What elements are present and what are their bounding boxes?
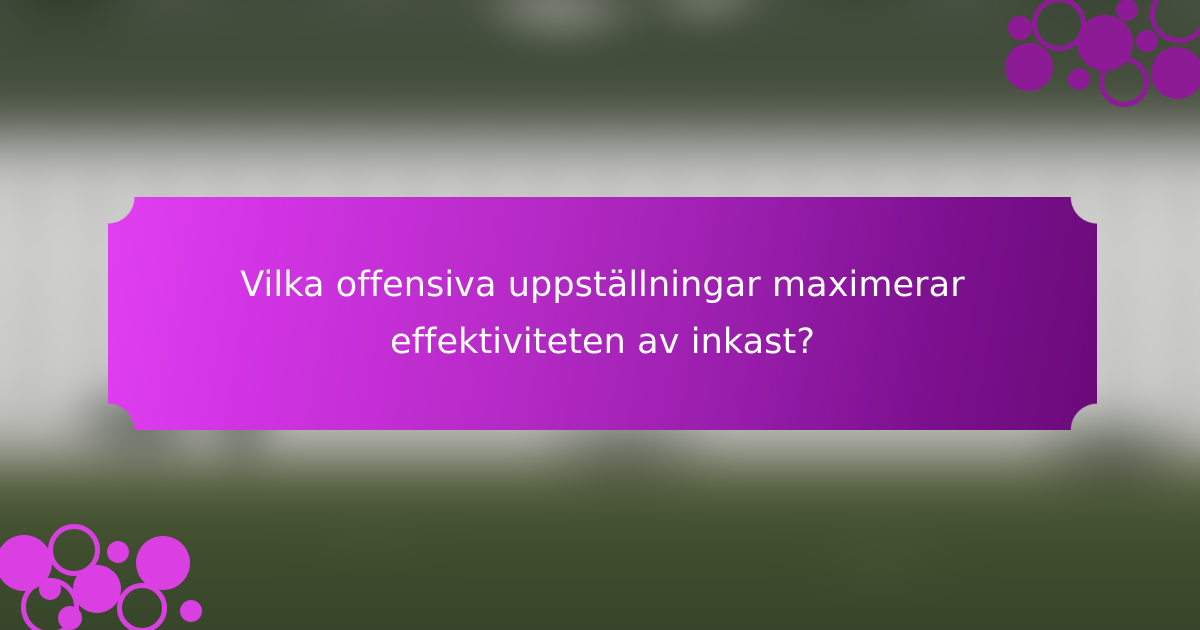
promo-card-stage: Vilka offensiva uppställningar maximerar… bbox=[0, 0, 1200, 630]
decorative-circles-bottom-left bbox=[0, 515, 215, 630]
decorative-circle bbox=[1151, 47, 1200, 99]
decorative-circle bbox=[1068, 68, 1090, 90]
decorative-circle bbox=[1136, 30, 1158, 52]
question-card: Vilka offensiva uppställningar maximerar… bbox=[108, 197, 1097, 430]
decorative-circle bbox=[73, 565, 121, 613]
decorative-circle bbox=[1150, 0, 1200, 43]
decorative-circle bbox=[1008, 16, 1032, 40]
decorative-circle bbox=[1099, 57, 1149, 107]
decorative-circle bbox=[58, 606, 82, 630]
question-text: Vilka offensiva uppställningar maximerar… bbox=[233, 257, 973, 370]
decorative-circle bbox=[1116, 0, 1138, 21]
decorative-circle bbox=[107, 541, 129, 563]
decorative-circles-top-right bbox=[990, 0, 1200, 105]
decorative-circle bbox=[39, 578, 61, 600]
decorative-circle bbox=[117, 583, 167, 630]
decorative-circle bbox=[136, 536, 190, 590]
decorative-circle bbox=[1005, 43, 1053, 91]
decorative-circle bbox=[180, 600, 202, 622]
